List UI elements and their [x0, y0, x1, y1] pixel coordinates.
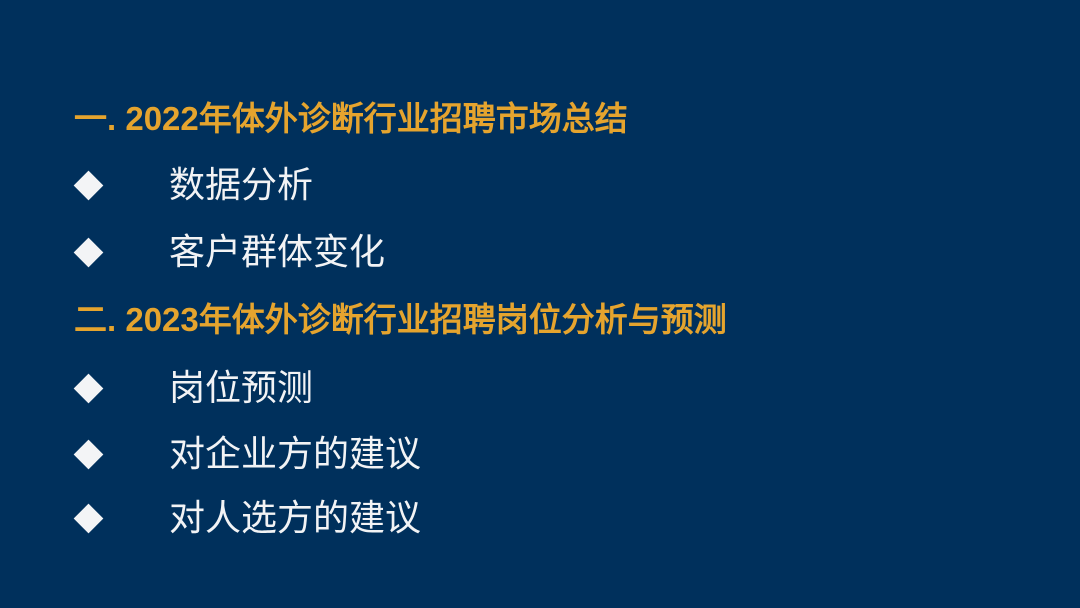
agenda-item-kehuqunti[interactable]: 客户群体变化 — [74, 232, 385, 272]
agenda-item-gangweiyuce[interactable]: 岗位预测 — [74, 368, 313, 408]
diamond-bullet-icon — [74, 170, 104, 200]
agenda-item-qiyefang-jianyi[interactable]: 对企业方的建议 — [74, 434, 421, 474]
agenda-item-label: 客户群体变化 — [169, 234, 385, 270]
agenda-item-label: 岗位预测 — [169, 370, 313, 406]
diamond-bullet-icon — [74, 237, 104, 267]
diamond-bullet-icon — [74, 373, 104, 403]
agenda-item-shujufenxi[interactable]: 数据分析 — [74, 165, 313, 205]
section-heading-1: 一. 2022年体外诊断行业招聘市场总结 — [74, 102, 628, 135]
section-number-1: 一. — [74, 102, 116, 135]
diamond-bullet-icon — [74, 439, 104, 469]
diamond-bullet-icon — [74, 503, 104, 533]
agenda-item-label: 对人选方的建议 — [169, 500, 421, 536]
section-number-2: 二. — [74, 303, 116, 336]
agenda-outline: 一. 2022年体外诊断行业招聘市场总结 数据分析 客户群体变化 二. 2023… — [0, 0, 1080, 608]
section-heading-2: 二. 2023年体外诊断行业招聘岗位分析与预测 — [74, 303, 727, 336]
presentation-slide: 一. 2022年体外诊断行业招聘市场总结 数据分析 客户群体变化 二. 2023… — [0, 0, 1080, 608]
section-title-2: 2023年体外诊断行业招聘岗位分析与预测 — [125, 303, 726, 336]
agenda-item-renxuanfang-jianyi[interactable]: 对人选方的建议 — [74, 498, 421, 538]
agenda-item-label: 数据分析 — [169, 167, 313, 203]
agenda-item-label: 对企业方的建议 — [169, 436, 421, 472]
section-title-1: 2022年体外诊断行业招聘市场总结 — [125, 102, 627, 135]
